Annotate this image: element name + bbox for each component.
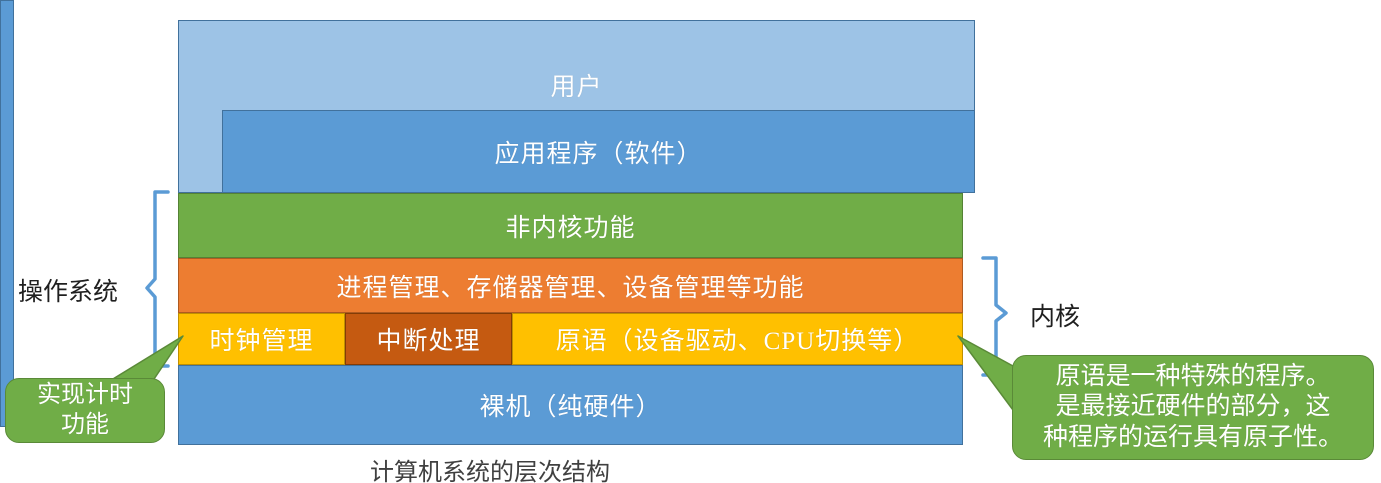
callout-primitive-line-1: 原语是一种特殊的程序。 [1055, 362, 1330, 393]
layer-management: 进程管理、存储器管理、设备管理等功能 [178, 258, 963, 313]
bracket-operating-system [147, 192, 168, 366]
callout-clock-line-1: 实现计时 [37, 381, 133, 410]
bracket-label-kernel: 内核 [1030, 297, 1080, 333]
callout-clock-line-2: 功能 [61, 411, 109, 440]
clock-callout-tail [108, 336, 183, 382]
callout-primitive: 原语是一种特殊的程序。 是最接近硬件的部分，这 种程序的运行具有原子性。 [1012, 355, 1374, 460]
bracket-kernel [983, 258, 1006, 375]
layer-interrupt-handling-label: 中断处理 [376, 321, 480, 357]
layer-hardware-label: 裸机（纯硬件） [479, 387, 661, 423]
layer-primitive: 原语（设备驱动、CPU切换等） [512, 313, 963, 365]
bracket-label-operating-system: 操作系统 [18, 272, 118, 308]
layer-interrupt-handling: 中断处理 [345, 313, 512, 365]
layer-user-label: 用户 [550, 67, 602, 103]
callout-primitive-line-3: 种程序的运行具有原子性。 [1043, 423, 1343, 454]
layer-application: 应用程序（软件） [222, 110, 975, 193]
callout-primitive-line-2: 是最接近硬件的部分，这 [1055, 392, 1330, 423]
layer-nonkernel-label: 非内核功能 [505, 208, 635, 244]
layer-nonkernel: 非内核功能 [178, 193, 963, 258]
diagram-caption: 计算机系统的层次结构 [330, 452, 650, 483]
layer-hardware: 裸机（纯硬件） [178, 365, 963, 445]
layer-application-label: 应用程序（软件） [494, 134, 702, 170]
layer-clock-management: 时钟管理 [178, 313, 345, 365]
stack-right-edge-strip [0, 0, 14, 427]
layer-clock-management-label: 时钟管理 [209, 321, 313, 357]
callout-clock-management: 实现计时 功能 [5, 378, 165, 443]
primitive-callout-tail [958, 336, 1013, 410]
diagram-canvas: 用户 应用程序（软件） 非内核功能 进程管理、存储器管理、设备管理等功能 时钟管… [0, 0, 1381, 483]
layer-management-label: 进程管理、存储器管理、设备管理等功能 [336, 268, 804, 304]
layer-primitive-label: 原语（设备驱动、CPU切换等） [556, 321, 920, 357]
